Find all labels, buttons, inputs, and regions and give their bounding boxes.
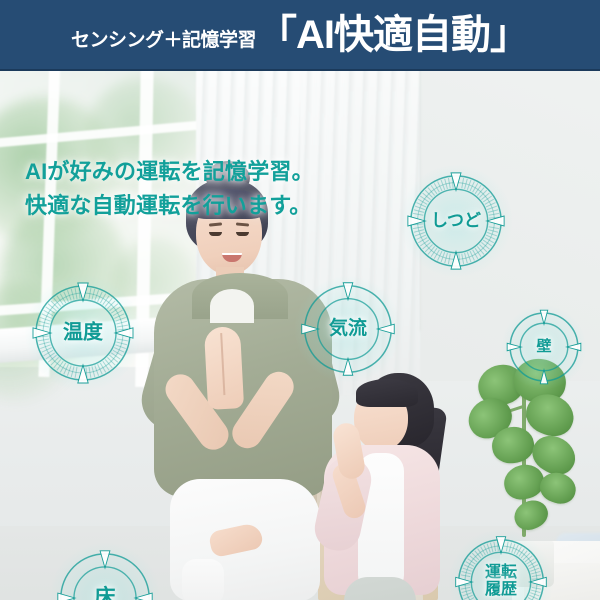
sensor-badge-airflow: 気流 [302,283,394,375]
inner-shirt [210,289,254,323]
header-kicker: センシング＋記憶学習 [71,25,256,52]
header-text-group: センシング＋記憶学習 「AI快適自動」 [71,15,529,55]
eye [209,232,222,236]
pants [344,577,416,600]
header-title: 「AI快適自動」 [257,15,529,55]
prayer-hands [204,326,244,410]
badge-ring-graphic [302,283,394,375]
shin [182,559,224,600]
sensor-badge-temperature: 温度 [33,283,133,383]
badge-ring-graphic [408,173,504,269]
sensor-badge-humidity: しつど [408,173,504,269]
badge-ring-graphic [456,537,546,600]
badge-ring-graphic [58,551,152,600]
woman-figure [148,161,338,600]
subtitle-block: AIが好みの運転を記憶学習。 快適な自動運転を行います。 [25,155,314,223]
plant-leaf [510,495,552,534]
sensor-badge-floor: 床 [58,551,152,600]
subtitle-line-1: AIが好みの運転を記憶学習。 [25,155,314,189]
sensor-badge-wall: 壁 [508,311,580,383]
photo-scene: AIが好みの運転を記憶学習。 快適な自動運転を行います。 しつど温度気流壁床運転… [0,71,600,600]
badge-ring-graphic [508,311,580,383]
subtitle-line-2: 快適な自動運転を行います。 [25,189,314,223]
eye [236,232,249,236]
badge-ring-graphic [33,283,133,383]
header-band: センシング＋記憶学習 「AI快適自動」 [0,0,600,71]
sensor-badge-history: 運転履歴 [456,537,546,600]
hair-fringe [356,379,418,407]
promo-banner: センシング＋記憶学習 「AI快適自動」 [0,0,600,600]
potted-plant [470,361,600,551]
